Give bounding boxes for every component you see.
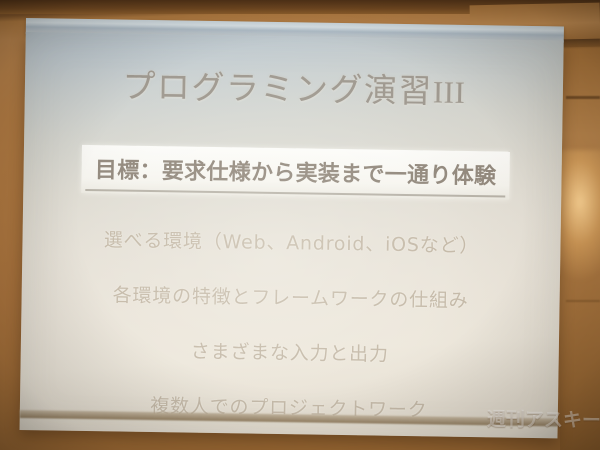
projected-slide-photo: プログラミング演習III 目標：要求仕様から実装まで一通り体験 選べる環境（We… <box>0 0 600 450</box>
bullet-line-io: さまざまな入力と出力 <box>21 334 559 369</box>
slide-title-roman: III <box>433 74 466 110</box>
bullet-line-frameworks: 各環境の特徴とフレームワークの仕組み <box>21 279 559 314</box>
slide-content: プログラミング演習III 目標：要求仕様から実装まで一通り体験 選べる環境（We… <box>20 32 564 438</box>
slide-title-main: プログラミング演習 <box>122 67 433 111</box>
wall-seam-lower <box>566 300 600 302</box>
publication-watermark: 週刊アスキー <box>487 404 600 432</box>
slide-title: プログラミング演習III <box>25 58 564 114</box>
bullet-line-environments: 選べる環境（Web、Android、iOSなど） <box>22 224 560 259</box>
wall-seam-upper <box>566 96 600 99</box>
goal-statement: 目標：要求仕様から実装まで一通り体験 <box>81 152 509 191</box>
projection-screen: プログラミング演習III 目標：要求仕様から実装まで一通り体験 選べる環境（We… <box>20 18 564 438</box>
